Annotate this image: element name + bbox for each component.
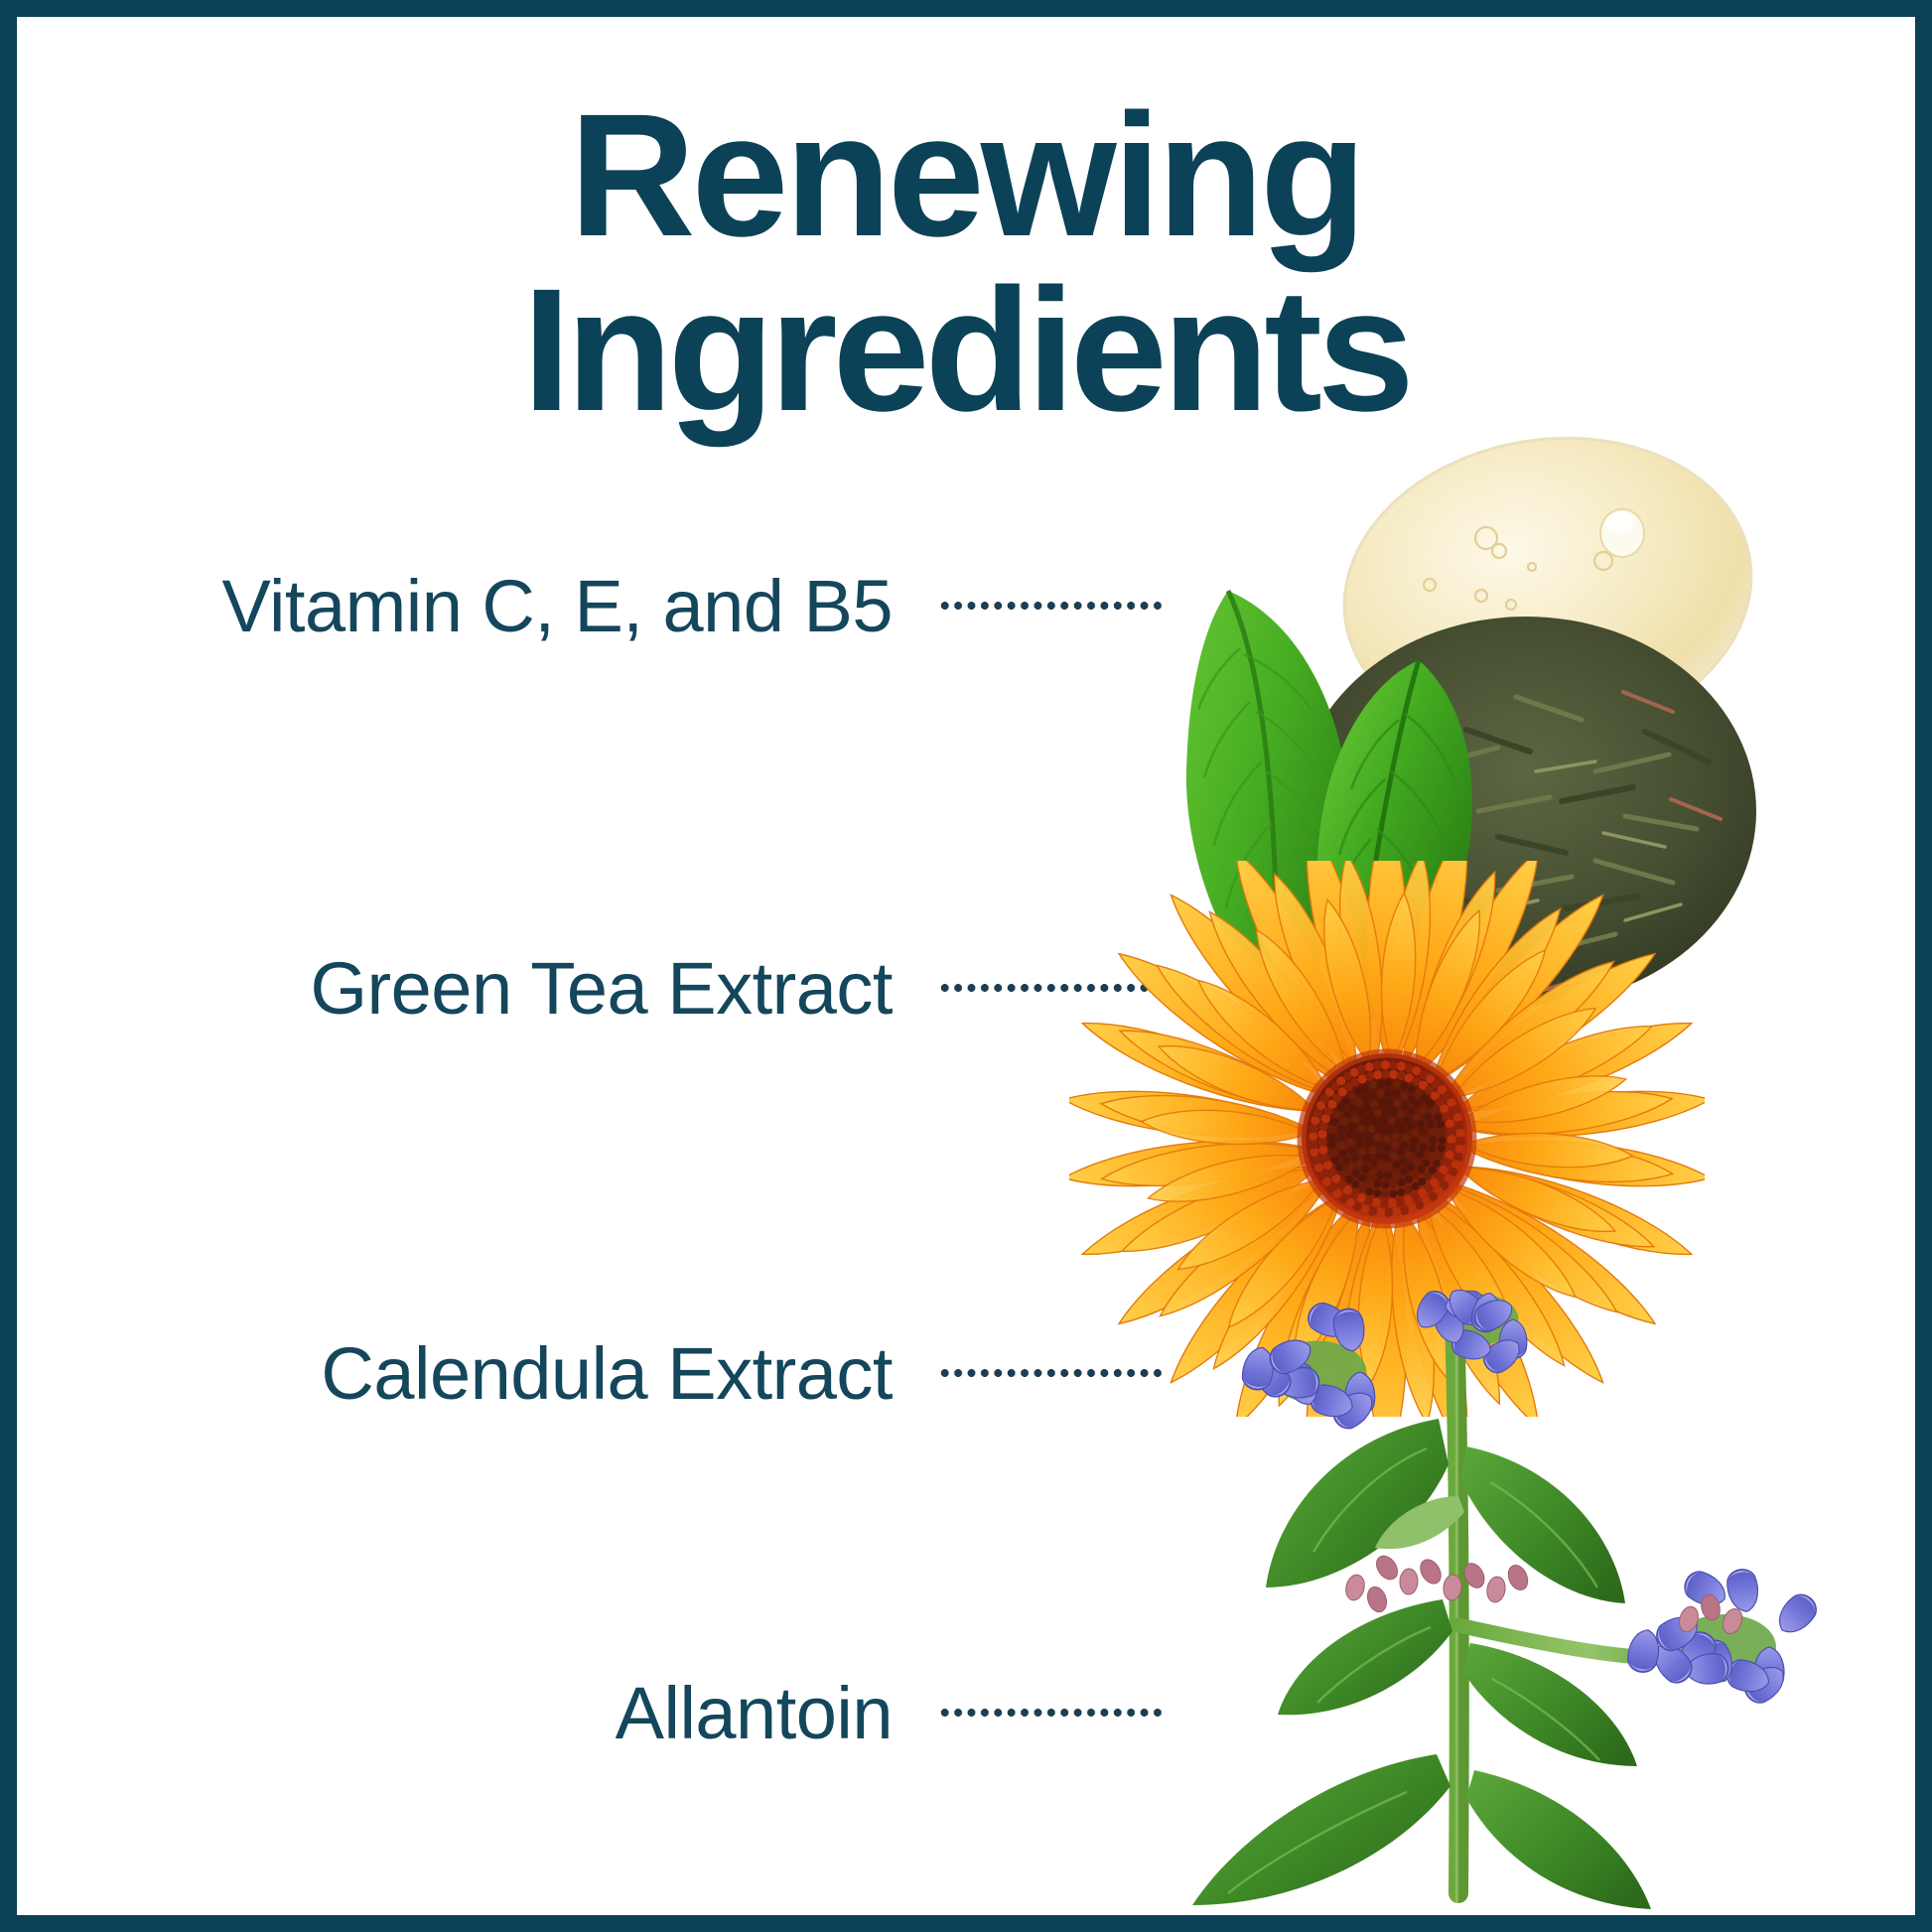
title-line-2: Ingredients bbox=[17, 263, 1915, 438]
ingredient-label: Green Tea Extract bbox=[310, 946, 893, 1031]
title-line-1: Renewing bbox=[17, 88, 1915, 263]
ingredient-row-allantoin: Allantoin bbox=[17, 1665, 1164, 1760]
comfrey-plant-image bbox=[1089, 1198, 1883, 1913]
ingredient-label: Calendula Extract bbox=[321, 1331, 893, 1416]
page-title: Renewing Ingredients bbox=[17, 88, 1915, 438]
ingredient-label: Allantoin bbox=[616, 1671, 893, 1755]
ingredient-imagery-stack bbox=[1069, 414, 1915, 1915]
ingredient-row-green-tea: Green Tea Extract bbox=[17, 940, 1164, 1035]
ingredient-card: Renewing Ingredients Vitamin C, E, and B… bbox=[17, 17, 1915, 1915]
ingredient-row-vitamins: Vitamin C, E, and B5 bbox=[17, 558, 1164, 653]
ingredient-row-calendula: Calendula Extract bbox=[17, 1325, 1164, 1421]
ingredient-label: Vitamin C, E, and B5 bbox=[221, 564, 893, 648]
